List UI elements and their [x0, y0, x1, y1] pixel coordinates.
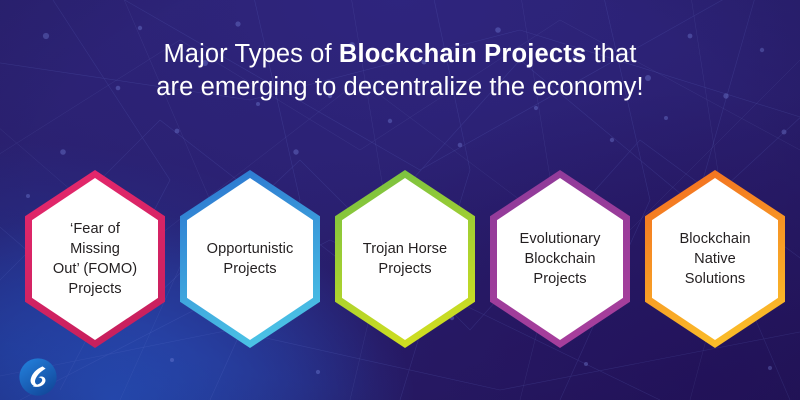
hexagon-label-fomo-projects: ‘Fear ofMissingOut’ (FOMO)Projects: [34, 170, 156, 348]
hexagon-label-trojan-horse-projects: Trojan HorseProjects: [344, 170, 466, 348]
hexagon-label-text: ‘Fear ofMissingOut’ (FOMO)Projects: [53, 219, 137, 300]
hexagon-label-text: Trojan HorseProjects: [363, 239, 447, 279]
title-highlight: Blockchain Projects: [339, 40, 587, 68]
hexagon-label-opportunistic-projects: OpportunisticProjects: [189, 170, 311, 348]
hexagon-label-evolutionary-blockchain-projects: EvolutionaryBlockchainProjects: [499, 170, 621, 348]
hexagon-label-text: OpportunisticProjects: [207, 239, 294, 279]
hexagon-card-trojan-horse-projects[interactable]: Trojan HorseProjects: [335, 170, 475, 348]
brand-logo-b-icon: [19, 358, 57, 396]
title-line-1: Major Types of Blockchain Projects that: [0, 38, 800, 71]
hexagon-card-fomo-projects[interactable]: ‘Fear ofMissingOut’ (FOMO)Projects: [25, 170, 165, 348]
title-suffix: that: [586, 40, 636, 68]
hexagon-card-opportunistic-projects[interactable]: OpportunisticProjects: [180, 170, 320, 348]
hexagon-label-text: EvolutionaryBlockchainProjects: [520, 229, 601, 289]
hexagon-label-blockchain-native-solutions: BlockchainNativeSolutions: [654, 170, 776, 348]
title-prefix: Major Types of: [163, 40, 338, 68]
hexagon-card-blockchain-native-solutions[interactable]: BlockchainNativeSolutions: [645, 170, 785, 348]
hexagon-card-evolutionary-blockchain-projects[interactable]: EvolutionaryBlockchainProjects: [490, 170, 630, 348]
hexagon-label-text: BlockchainNativeSolutions: [679, 229, 750, 289]
page-title: Major Types of Blockchain Projects that …: [0, 38, 800, 104]
infographic-canvas: Major Types of Blockchain Projects that …: [0, 0, 800, 400]
title-line-2: are emerging to decentralize the economy…: [0, 71, 800, 104]
